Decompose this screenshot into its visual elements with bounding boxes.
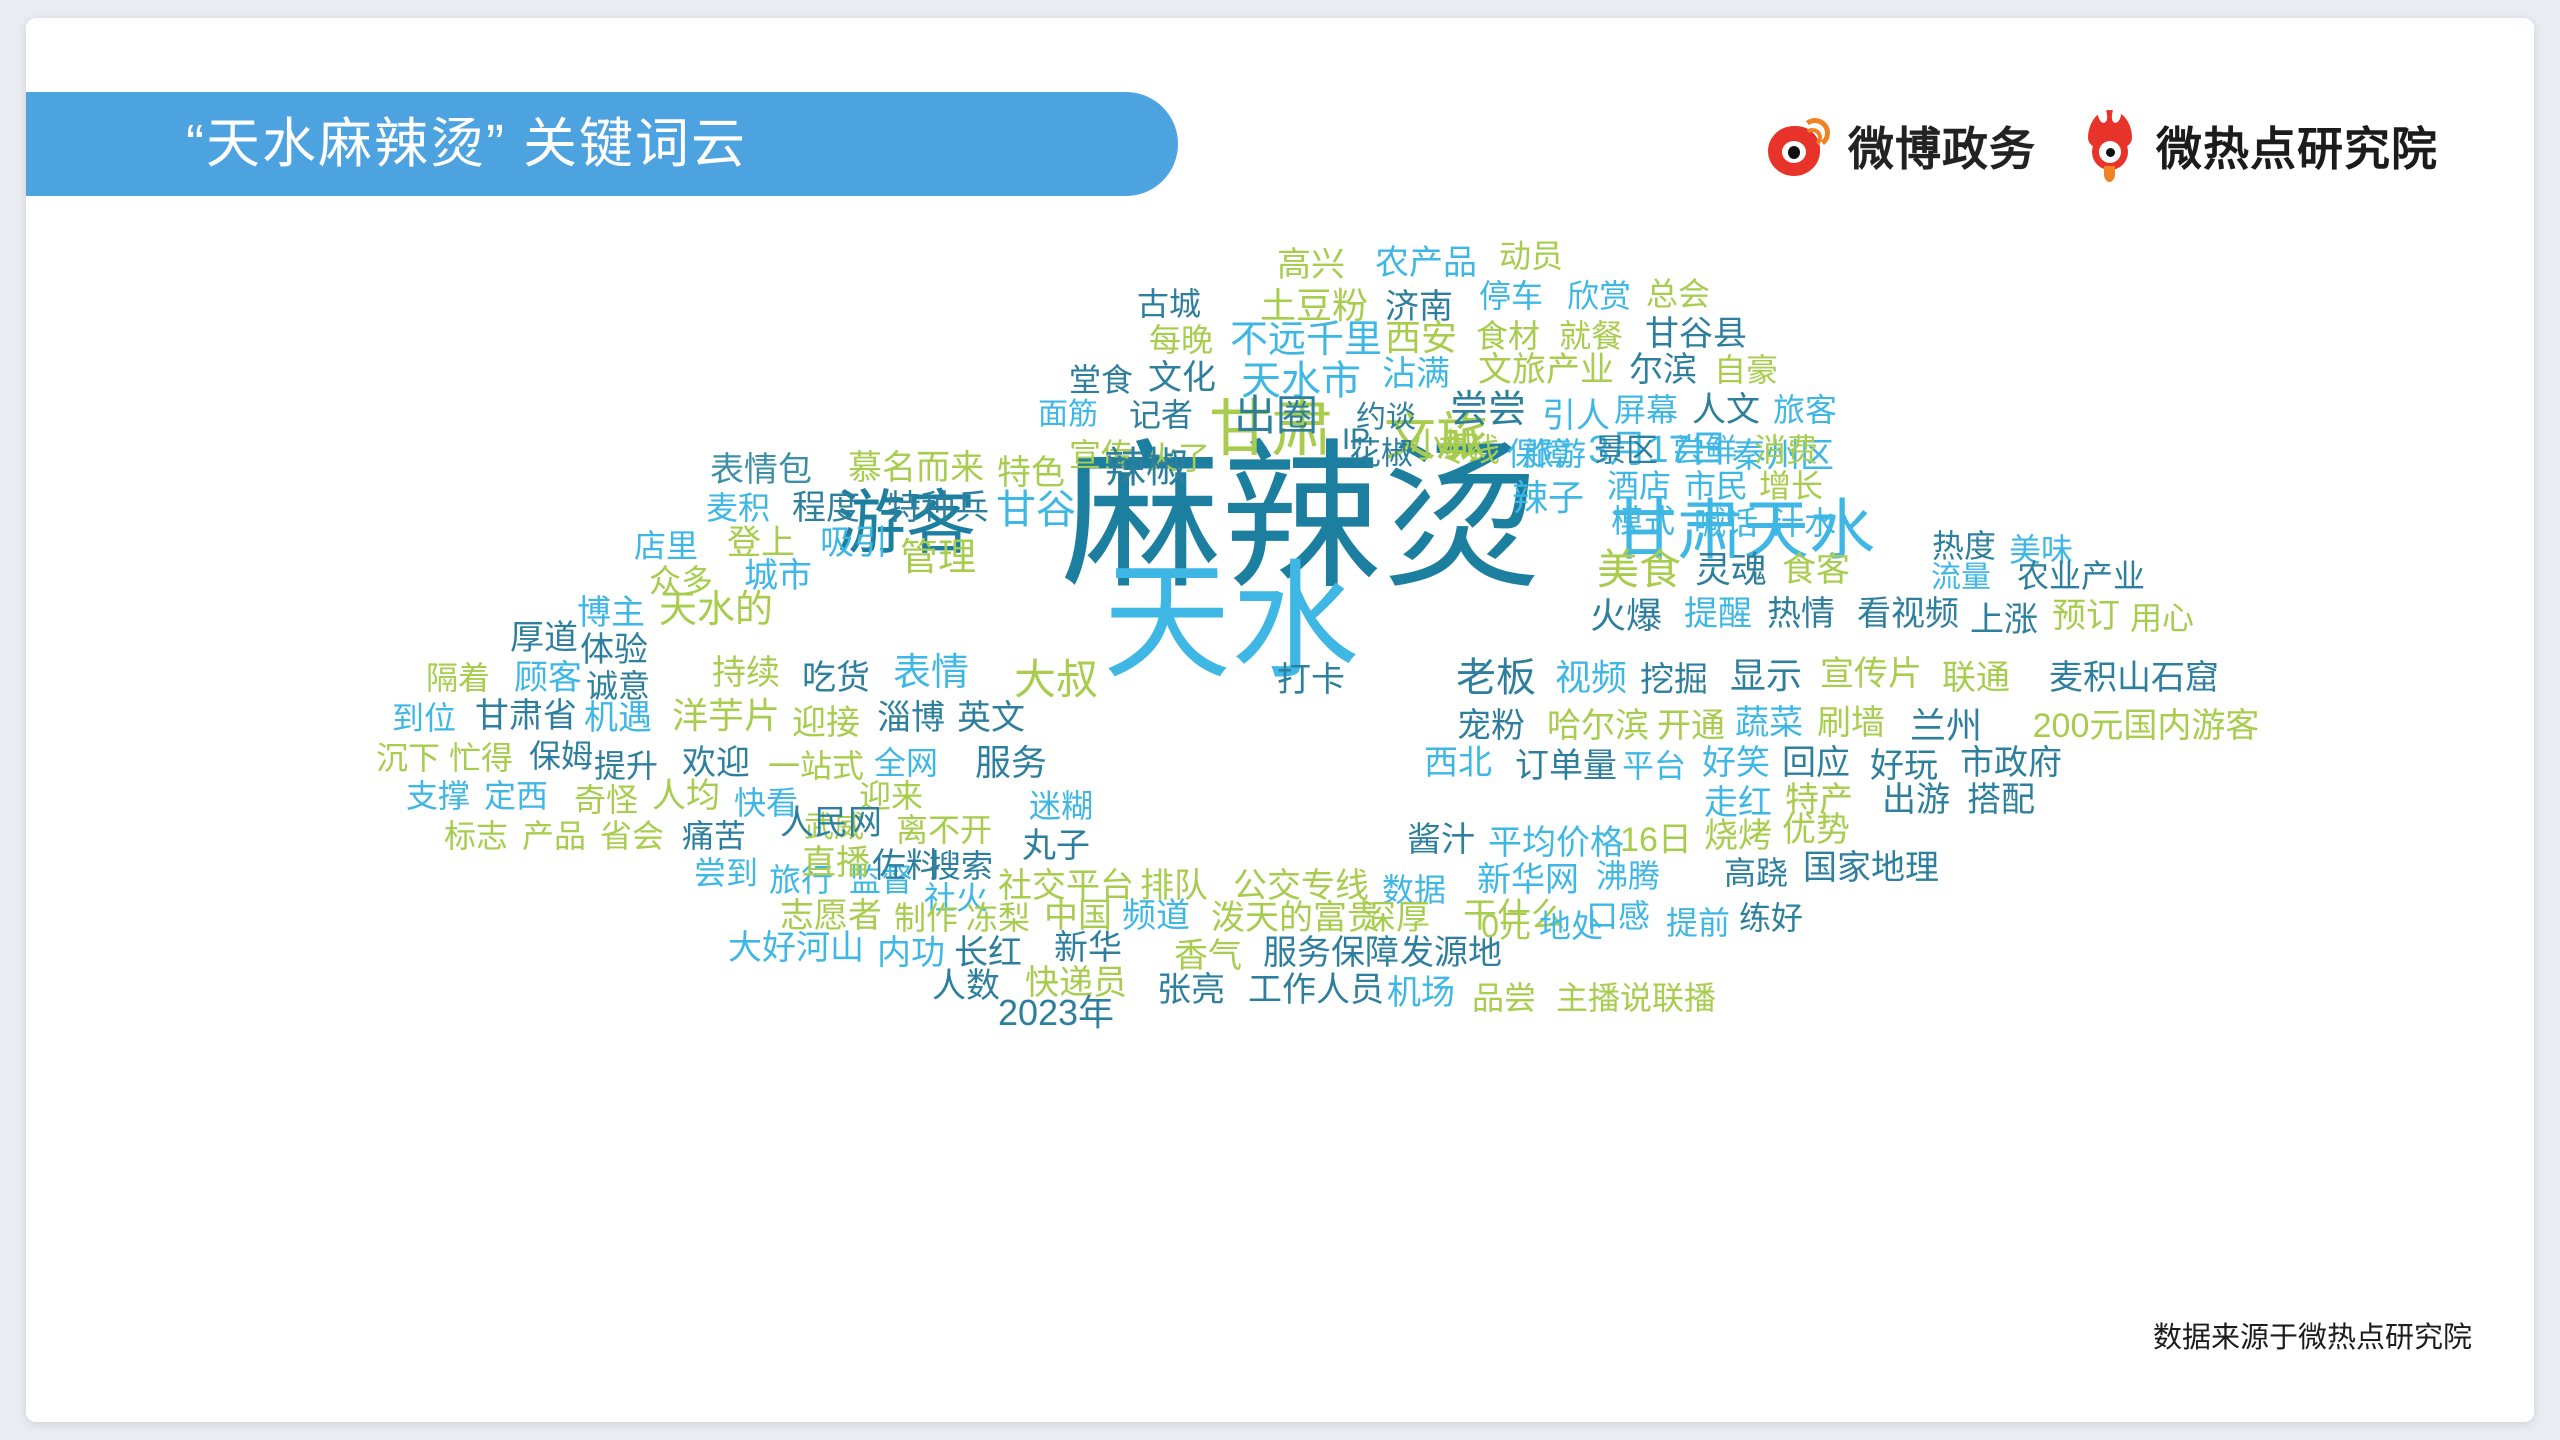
wordcloud-word: 冻梨	[966, 902, 1030, 934]
wordcloud-word: 厚道	[510, 621, 578, 655]
wordcloud-word: 平均价格	[1488, 826, 1624, 860]
wordcloud-word: 欢迎	[682, 746, 750, 780]
wordcloud-word: 打卡	[1277, 663, 1345, 697]
wordcloud-word: 奇怪	[574, 784, 638, 816]
wordcloud-word: 旅游	[1522, 438, 1586, 470]
wordcloud-word: 尝到	[694, 857, 758, 889]
wordcloud-word: 视频	[1555, 660, 1627, 696]
wordcloud-word: 直播	[802, 846, 870, 880]
wordcloud-word: 品尝	[1472, 982, 1536, 1014]
wordcloud-word: 刷墙	[1817, 706, 1885, 740]
weibo-eye-icon	[1768, 114, 1832, 178]
wordcloud-word: 迷糊	[1029, 790, 1093, 822]
wordcloud-word: 预订	[2052, 599, 2120, 633]
wordcloud-word: 产品	[522, 820, 586, 852]
wordcloud-word: 专线	[1436, 434, 1500, 466]
wordcloud-word: 定西	[484, 780, 548, 812]
wordcloud-word: 0元	[1481, 910, 1531, 942]
wordcloud-word: 标志	[444, 820, 508, 852]
wordcloud-word: 佐料	[872, 849, 940, 883]
flame-eye-icon	[2082, 110, 2140, 182]
wordcloud-word: 辣子	[1512, 480, 1584, 516]
wordcloud-word: 甘谷县	[1645, 317, 1747, 351]
wordcloud-word: 特种兵	[887, 491, 989, 525]
wordcloud-word: 练好	[1739, 902, 1803, 934]
wordcloud-word: 宣传片	[1820, 657, 1922, 691]
wordcloud-word: 流量	[1931, 563, 1991, 593]
wordcloud-word: 2023年	[998, 995, 1114, 1031]
wordcloud-word: 保姆	[529, 740, 593, 772]
wordcloud-word: 离不开	[896, 814, 992, 846]
wordcloud-word: 中国	[1044, 899, 1112, 933]
wordcloud-word: 文化	[1148, 361, 1216, 395]
wordcloud-word: 店里	[634, 530, 698, 562]
wrd-institute-label: 微热点研究院	[2156, 113, 2438, 179]
wordcloud-word: 丸子	[1022, 829, 1090, 863]
wordcloud-word: 淄博	[877, 701, 945, 735]
slide-canvas: “天水麻辣烫” 关键词云 微博政务 微热点研究院 麻辣烫天水甘肃天水游客甘肃文旅…	[26, 18, 2534, 1422]
wordcloud-word: 大好河山	[728, 931, 864, 965]
wordcloud-word: 省会	[600, 820, 664, 852]
wordcloud-word: 隔着	[426, 662, 490, 694]
wordcloud-word: 热情	[1767, 597, 1835, 631]
wordcloud-word: 国家地理	[1803, 851, 1939, 885]
wordcloud-word: 甘肃省	[475, 699, 577, 733]
wordcloud-word: 一站式	[768, 750, 864, 782]
wordcloud-word: 程度	[792, 491, 860, 525]
wordcloud-word: 尝鲜	[1673, 434, 1737, 466]
wordcloud-word: 持续	[712, 656, 780, 690]
wordcloud-word: 农产品	[1375, 246, 1477, 280]
wordcloud-word: 麦积	[706, 492, 770, 524]
wordcloud-word: 订单量	[1515, 749, 1617, 783]
wordcloud-word: 主播说联播	[1556, 982, 1716, 1014]
wordcloud-word: 市民	[1684, 470, 1748, 502]
wordcloud-word: 英文	[957, 701, 1025, 735]
wordcloud-word: 显示	[1730, 658, 1802, 694]
wordcloud-word: 搭配	[1967, 783, 2035, 817]
wordcloud-word: 沾满	[1382, 357, 1450, 391]
wordcloud-word: 尔滨	[1629, 353, 1697, 387]
wordcloud-word: 模式	[1611, 505, 1675, 537]
wordcloud-word: 人民网	[780, 806, 882, 840]
wordcloud-word: 酒店	[1607, 470, 1671, 502]
wordcloud-word: 烧烤	[1704, 819, 1772, 853]
wordcloud-word: 面筋	[1038, 400, 1098, 430]
wordcloud-word: 尝尝	[1450, 391, 1526, 429]
wordcloud-word: 高跷	[1724, 857, 1788, 889]
wordcloud-word: 每晚	[1149, 324, 1213, 356]
wordcloud-word: 麦积山石窟	[2049, 661, 2219, 695]
wordcloud-word: 汁水	[1772, 507, 1836, 539]
wordcloud-word: 甘谷	[996, 490, 1076, 530]
wordcloud-word: 总会	[1646, 278, 1710, 310]
wordcloud-word: 制作	[894, 902, 958, 934]
wordcloud-word: 屏幕	[1614, 394, 1678, 426]
wordcloud-word: 停车	[1479, 280, 1543, 312]
wordcloud-word: 上涨	[1970, 603, 2038, 637]
wordcloud-word: 兰州	[1910, 708, 1982, 744]
wordcloud-word: 市政府	[1960, 746, 2062, 780]
wordcloud-word: 管理	[900, 539, 976, 577]
wordcloud-word: 香气	[1174, 939, 1242, 973]
wordcloud-word: 洋芋片	[672, 698, 780, 734]
wordcloud-word: 痛苦	[682, 820, 746, 852]
wordcloud-word: 引人	[1542, 399, 1610, 433]
wordcloud-word: 蔬菜	[1735, 706, 1803, 740]
wordcloud-word: 食客	[1782, 553, 1850, 587]
wordcloud-word: 平台	[1622, 750, 1686, 782]
wordcloud-word: 增长	[1759, 470, 1823, 502]
wordcloud-word: 消费	[1754, 434, 1818, 466]
wordcloud-word: 优势	[1782, 813, 1850, 847]
wordcloud-word: 体验	[580, 633, 648, 667]
wordcloud-word: 宠粉	[1457, 709, 1525, 743]
wordcloud-word: 人均	[652, 779, 720, 813]
wordcloud-word: 表情	[893, 654, 969, 692]
wordcloud-word: 古城	[1137, 288, 1201, 320]
wordcloud-word: 登上	[727, 526, 795, 560]
wordcloud-word: 走红	[1704, 786, 1772, 820]
wordcloud-word: 大叔	[1014, 659, 1098, 701]
wordcloud-word: 酱汁	[1407, 823, 1475, 857]
wordcloud-word: 西安	[1385, 320, 1457, 356]
wordcloud-word: 火爆	[1590, 598, 1662, 634]
wordcloud-word: 堂食	[1069, 364, 1133, 396]
wordcloud-word: 支撑	[406, 780, 470, 812]
wordcloud-word: 新华	[1054, 931, 1122, 965]
wordcloud-word: 地处	[1539, 910, 1603, 942]
wordcloud-word: 机场	[1387, 976, 1455, 1010]
wordcloud-word: 用心	[2130, 602, 2194, 634]
wordcloud-word: 工作人员	[1248, 973, 1384, 1007]
wordcloud-word: 提升	[594, 750, 658, 782]
wordcloud-word: 美食	[1597, 549, 1681, 591]
wordcloud-word: 长红	[954, 936, 1022, 970]
logo-group: 微博政务 微热点研究院	[1768, 100, 2438, 192]
wordcloud-word: 公交专线	[1233, 869, 1369, 903]
wordcloud-word: 吸引	[820, 526, 888, 560]
wordcloud-word: 到位	[392, 702, 456, 734]
wordcloud-word: 特色	[997, 456, 1065, 490]
wordcloud-word: 机遇	[584, 701, 652, 735]
wordcloud-word: IP	[1342, 425, 1370, 455]
weibo-government-logo: 微博政务	[1768, 113, 2036, 179]
wordcloud-word: 提醒	[1684, 597, 1752, 631]
wordcloud-word: 热度	[1932, 530, 1996, 562]
data-source-note: 数据来源于微热点研究院	[2153, 1314, 2472, 1356]
page-title: “天水麻辣烫” 关键词云	[186, 92, 747, 196]
wordcloud-word: 迎接	[792, 706, 860, 740]
wordcloud-word: 频道	[1122, 899, 1190, 933]
wordcloud-word: 表情包	[710, 453, 812, 487]
wordcloud-word: 好玩	[1870, 749, 1938, 783]
wordcloud-word: 诚意	[586, 670, 650, 702]
wordcloud-word: 出游	[1882, 783, 1950, 817]
wordcloud-word: 人文	[1692, 393, 1760, 427]
wordcloud-word: 人数	[932, 969, 1000, 1003]
wordcloud-word: 高兴	[1277, 248, 1345, 282]
wordcloud-word: 动员	[1499, 240, 1563, 272]
wordcloud-word: 好笑	[1702, 746, 1770, 780]
wordcloud-word: 文旅产业	[1478, 353, 1614, 387]
wordcloud-word: 新华网	[1477, 863, 1579, 897]
header-banner: “天水麻辣烫” 关键词云	[26, 92, 1178, 196]
wordcloud-word: 回应	[1782, 746, 1850, 780]
wordcloud-word: 欣赏	[1567, 280, 1631, 312]
wordcloud-word: 沉下	[376, 742, 440, 774]
weibo-government-label: 微博政务	[1848, 113, 2036, 179]
wordcloud-word: 泼天的富贵	[1211, 901, 1381, 935]
wordcloud-word: 天水的	[659, 591, 773, 629]
wordcloud-word: 农业产业	[2017, 560, 2145, 592]
wordcloud-word: 服务	[975, 745, 1047, 781]
wordcloud-word: 联通	[1942, 661, 2010, 695]
wordcloud-word: 服务保障	[1263, 936, 1399, 970]
wordcloud-word: 提前	[1666, 907, 1730, 939]
wordcloud-word: 记者	[1129, 399, 1193, 431]
wordcloud-word: 不远千里	[1230, 321, 1382, 359]
wordcloud-word: 200元国内游客	[2033, 709, 2260, 743]
wordcloud-word: 志愿者	[780, 899, 882, 933]
wordcloud-word: 吃货	[802, 661, 870, 695]
wordcloud-word: 慕名而来	[848, 451, 984, 485]
wordcloud-word: 16日	[1620, 823, 1692, 857]
wordcloud-word: 张亮	[1157, 973, 1225, 1007]
wordcloud-word: 喊话	[1694, 507, 1758, 539]
wordcloud-word: 看视频	[1857, 597, 1959, 631]
wordcloud-word: 老板	[1456, 658, 1536, 698]
wordcloud-word: 哈尔滨	[1547, 709, 1649, 743]
wordcloud-word: 食材	[1476, 320, 1540, 352]
wordcloud-word: 深厚	[1362, 901, 1430, 935]
wordcloud-word: 内功	[877, 936, 945, 970]
wordcloud-word: 旅客	[1773, 394, 1837, 426]
wrd-institute-logo: 微热点研究院	[2082, 110, 2438, 182]
wordcloud: 麻辣烫天水甘肃天水游客甘肃文旅高兴农产品动员古城土豆粉济南停车欣赏总会每晚不远千…	[26, 218, 2534, 1278]
wordcloud-word: 就餐	[1559, 320, 1623, 352]
wordcloud-word: 景区	[1594, 434, 1658, 466]
wordcloud-word: 顾客	[514, 661, 582, 695]
wordcloud-word: 城市	[744, 559, 812, 593]
wordcloud-word: 灵魂	[1695, 552, 1767, 588]
wordcloud-word: 辣椒	[1104, 447, 1188, 489]
wordcloud-word: 全网	[874, 747, 938, 779]
wordcloud-word: 忙得	[449, 742, 513, 774]
wordcloud-word: 自豪	[1714, 354, 1778, 386]
wordcloud-word: 开通	[1657, 709, 1725, 743]
wordcloud-word: 沸腾	[1596, 860, 1660, 892]
wordcloud-word: 出圈	[1234, 395, 1318, 437]
wordcloud-word: 西北	[1424, 746, 1492, 780]
wordcloud-word: 挖掘	[1640, 663, 1708, 697]
wordcloud-word: 博主	[577, 596, 645, 630]
